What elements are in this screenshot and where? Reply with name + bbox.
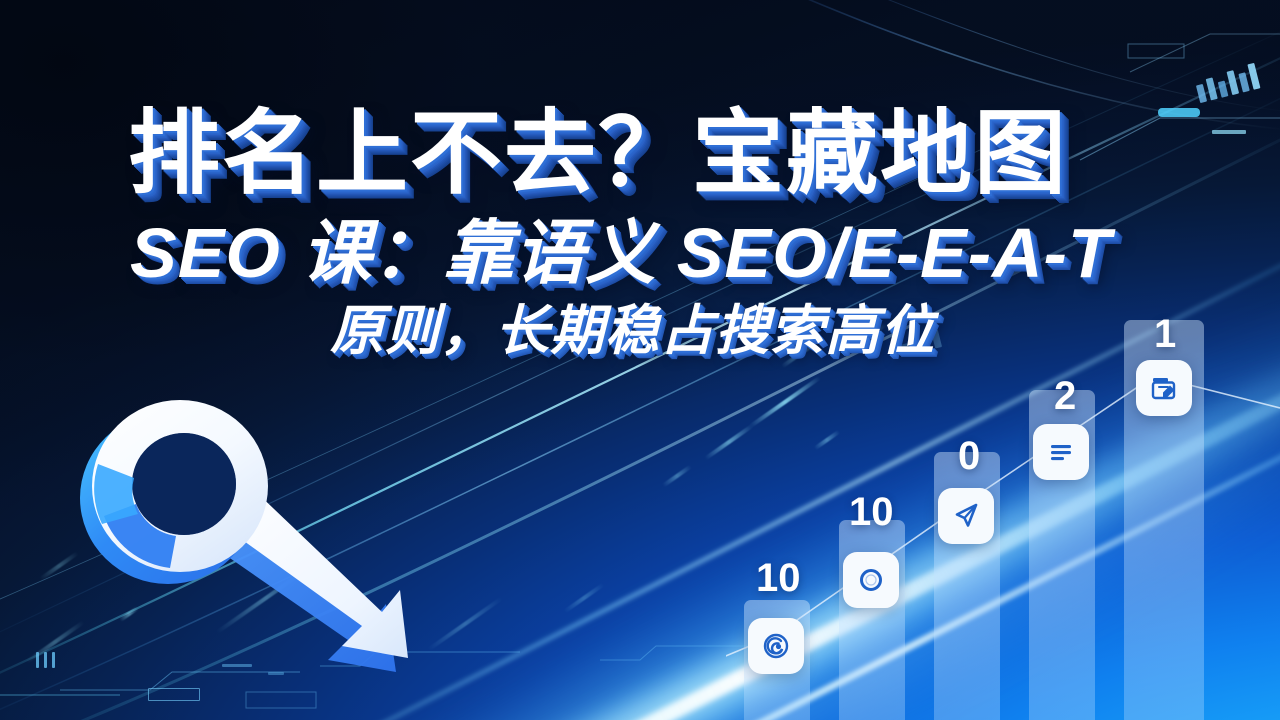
bar-value-2: 10 bbox=[849, 492, 894, 532]
bar-badge-5 bbox=[1136, 360, 1192, 416]
magnifying-glass-icon bbox=[52, 368, 412, 678]
bar-value-3: 0 bbox=[958, 436, 980, 476]
bar-chart: 10 10 0 2 1 bbox=[726, 300, 1280, 720]
folder-pen-icon bbox=[1148, 372, 1180, 404]
ring-circle-icon bbox=[855, 564, 887, 596]
bar-value-4: 2 bbox=[1054, 376, 1076, 416]
text-lines-icon bbox=[1045, 436, 1077, 468]
spiral-eye-icon bbox=[760, 630, 792, 662]
bar-badge-1 bbox=[748, 618, 804, 674]
headline-line-1: 排名上不去？宝藏地图 bbox=[0, 108, 1180, 200]
paper-plane-icon bbox=[950, 500, 982, 532]
bar-badge-4 bbox=[1033, 424, 1089, 480]
bar-badge-2 bbox=[843, 552, 899, 608]
bar-value-1: 10 bbox=[756, 558, 801, 598]
poster-canvas: 排名上不去？宝藏地图 SEO 课：靠语义 SEO/E-E-A-T 原则，长期稳占… bbox=[0, 0, 1280, 720]
bar-2 bbox=[839, 520, 905, 720]
headline-line-2: SEO 课：靠语义 SEO/E-E-A-T bbox=[0, 218, 1180, 288]
bar-value-5: 1 bbox=[1154, 314, 1176, 354]
bar-badge-3 bbox=[938, 488, 994, 544]
bar-chart-plot: 10 10 0 2 1 bbox=[726, 300, 1280, 720]
